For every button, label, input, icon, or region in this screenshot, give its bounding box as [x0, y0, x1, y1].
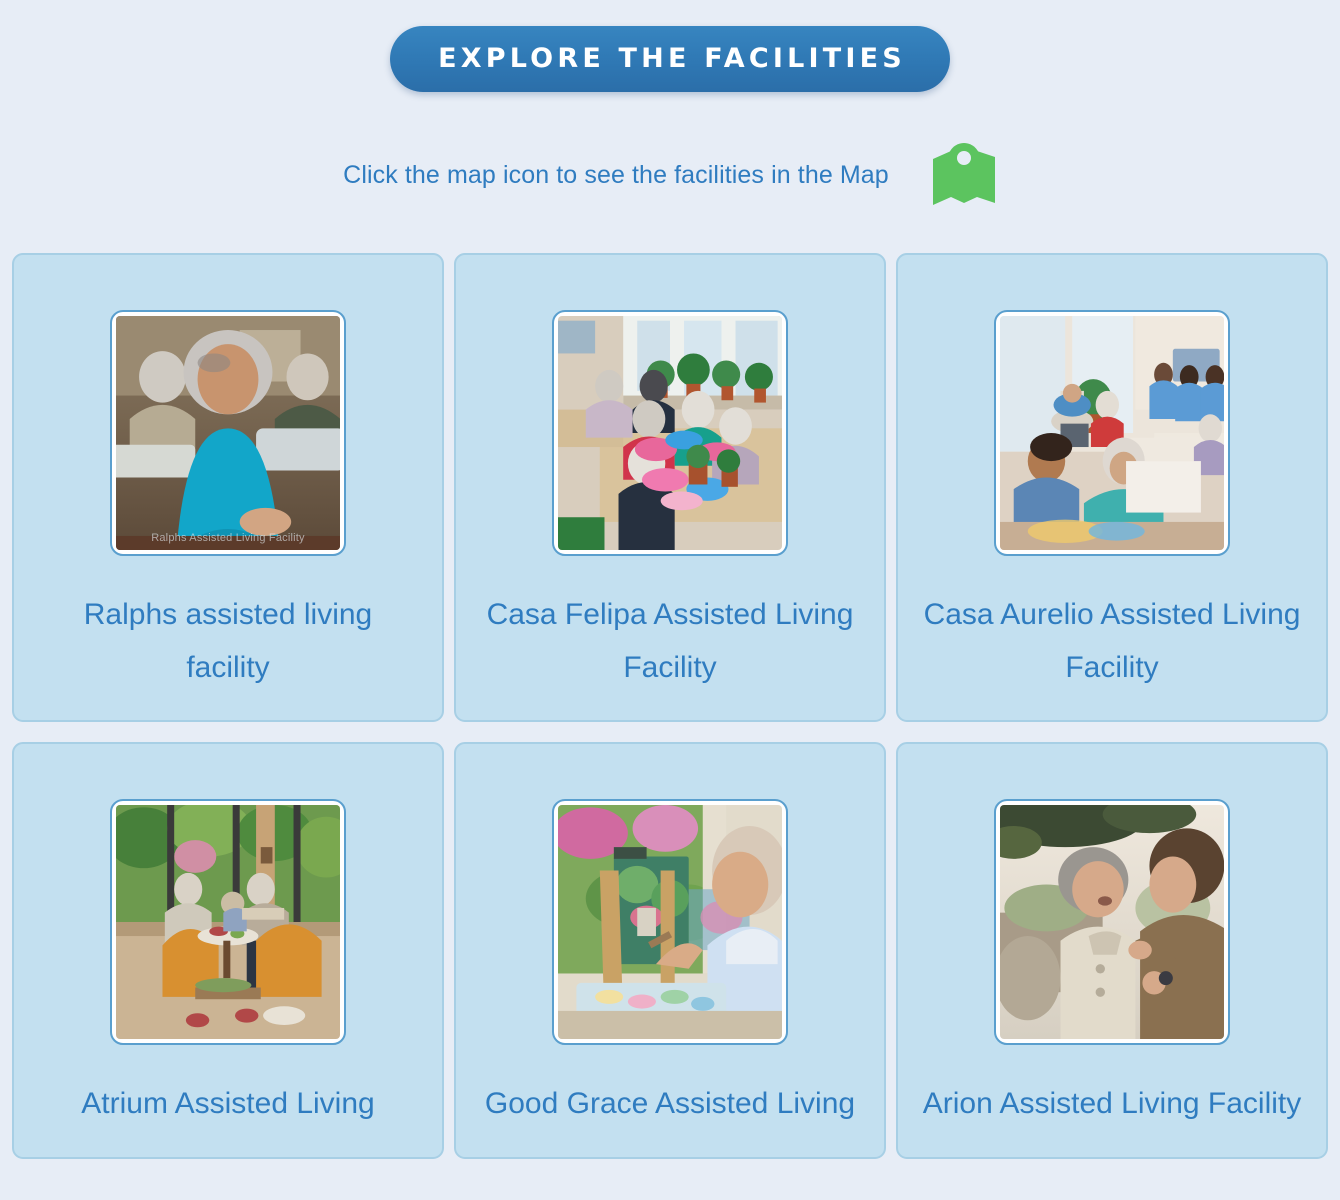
facility-photo [558, 805, 782, 1039]
facility-name: Arion Assisted Living Facility [916, 1078, 1308, 1131]
map-icon [931, 143, 997, 208]
facility-thumbnail-frame[interactable]: Ralphs Assisted Living Facility [110, 310, 346, 556]
facility-thumbnail-frame[interactable] [110, 799, 346, 1045]
facility-thumbnail-frame[interactable] [994, 310, 1230, 556]
facility-photo [1000, 805, 1224, 1039]
facility-card-casa-aurelio[interactable]: Casa Aurelio Assisted Living Facility [896, 253, 1328, 722]
facility-card-atrium[interactable]: Atrium Assisted Living [12, 742, 444, 1159]
facility-card-casa-felipa[interactable]: Casa Felipa Assisted Living Facility [454, 253, 886, 722]
page-header: EXPLORE THE FACILITIES Click the map ico… [0, 0, 1340, 208]
facility-name: Casa Felipa Assisted Living Facility [474, 589, 866, 694]
facility-name: Ralphs assisted living facility [32, 589, 424, 694]
map-hint-text: Click the map icon to see the facilities… [343, 161, 889, 190]
explore-facilities-page: EXPLORE THE FACILITIES Click the map ico… [0, 0, 1340, 1200]
map-hint-row: Click the map icon to see the facilities… [0, 142, 1340, 208]
facility-card-arion[interactable]: Arion Assisted Living Facility [896, 742, 1328, 1159]
facility-photo [558, 316, 782, 550]
facility-photo [1000, 316, 1224, 550]
facility-card-good-grace[interactable]: Good Grace Assisted Living [454, 742, 886, 1159]
facility-name: Good Grace Assisted Living [474, 1078, 866, 1131]
facility-photo: Ralphs Assisted Living Facility [116, 316, 340, 550]
facility-card-ralphs[interactable]: Ralphs Assisted Living Facility Ralphs a… [12, 253, 444, 722]
facility-name: Atrium Assisted Living [32, 1078, 424, 1131]
explore-the-facilities-button[interactable]: EXPLORE THE FACILITIES [390, 26, 950, 92]
facility-thumbnail-frame[interactable] [994, 799, 1230, 1045]
facility-photo [116, 805, 340, 1039]
facility-name: Casa Aurelio Assisted Living Facility [916, 589, 1308, 694]
facility-thumbnail-frame[interactable] [552, 310, 788, 556]
map-icon-button[interactable] [931, 142, 997, 208]
facilities-grid: Ralphs Assisted Living Facility Ralphs a… [0, 253, 1340, 1159]
facility-thumbnail-frame[interactable] [552, 799, 788, 1045]
photo-watermark: Ralphs Assisted Living Facility [116, 532, 340, 544]
